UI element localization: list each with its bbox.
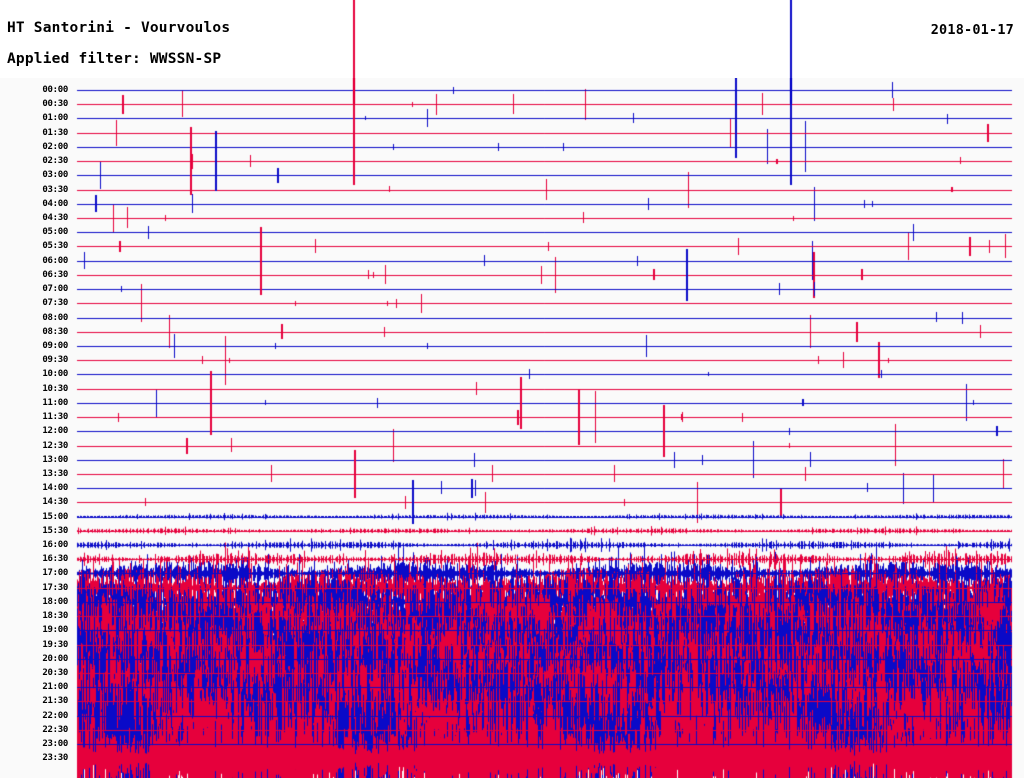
- time-tick-label: 11:30: [24, 412, 68, 422]
- time-tick-label: 16:00: [24, 540, 68, 550]
- time-tick-label: 22:30: [24, 725, 68, 735]
- time-tick-label: 23:30: [24, 753, 68, 763]
- time-tick-label: 07:30: [24, 298, 68, 308]
- time-tick-label: 20:30: [24, 668, 68, 678]
- seismogram-canvas: [0, 78, 1024, 778]
- time-tick-label: 22:00: [24, 711, 68, 721]
- time-tick-label: 06:30: [24, 270, 68, 280]
- time-tick-label: 00:30: [24, 99, 68, 109]
- time-tick-label: 13:00: [24, 455, 68, 465]
- time-tick-label: 03:30: [24, 185, 68, 195]
- time-tick-label: 08:00: [24, 313, 68, 323]
- time-tick-label: 04:00: [24, 199, 68, 209]
- time-tick-label: 11:00: [24, 398, 68, 408]
- time-tick-label: 02:00: [24, 142, 68, 152]
- time-tick-label: 12:00: [24, 426, 68, 436]
- time-tick-label: 03:00: [24, 170, 68, 180]
- time-tick-label: 06:00: [24, 256, 68, 266]
- applied-filter-label: Applied filter: WWSSN-SP: [7, 51, 221, 67]
- time-tick-label: 20:00: [24, 654, 68, 664]
- time-tick-label: 00:00: [24, 85, 68, 95]
- page-title: HT Santorini - Vourvoulos: [7, 20, 230, 36]
- time-tick-label: 09:00: [24, 341, 68, 351]
- time-tick-label: 21:30: [24, 696, 68, 706]
- time-tick-label: 08:30: [24, 327, 68, 337]
- seismogram-page: HT Santorini - Vourvoulos Applied filter…: [0, 0, 1024, 780]
- time-tick-label: 02:30: [24, 156, 68, 166]
- time-tick-label: 05:30: [24, 241, 68, 251]
- time-tick-label: 18:00: [24, 597, 68, 607]
- time-tick-label: 18:30: [24, 611, 68, 621]
- time-tick-label: 15:30: [24, 526, 68, 536]
- time-tick-label: 19:00: [24, 625, 68, 635]
- time-tick-label: 17:00: [24, 568, 68, 578]
- time-tick-label: 07:00: [24, 284, 68, 294]
- time-tick-label: 09:30: [24, 355, 68, 365]
- time-tick-label: 12:30: [24, 441, 68, 451]
- time-tick-label: 14:00: [24, 483, 68, 493]
- time-tick-label: 21:00: [24, 682, 68, 692]
- time-tick-label: 23:00: [24, 739, 68, 749]
- time-tick-label: 16:30: [24, 554, 68, 564]
- time-tick-label: 10:30: [24, 384, 68, 394]
- helicorder-plot: 00:0000:3001:0001:3002:0002:3003:0003:30…: [0, 78, 1024, 778]
- time-tick-label: 15:00: [24, 512, 68, 522]
- time-tick-label: 01:30: [24, 128, 68, 138]
- time-tick-label: 10:00: [24, 369, 68, 379]
- time-tick-label: 05:00: [24, 227, 68, 237]
- record-date: 2018-01-17: [931, 22, 1014, 38]
- time-tick-label: 19:30: [24, 640, 68, 650]
- time-tick-label: 14:30: [24, 497, 68, 507]
- time-tick-label: 17:30: [24, 583, 68, 593]
- time-tick-label: 13:30: [24, 469, 68, 479]
- time-tick-label: 01:00: [24, 113, 68, 123]
- time-tick-label: 04:30: [24, 213, 68, 223]
